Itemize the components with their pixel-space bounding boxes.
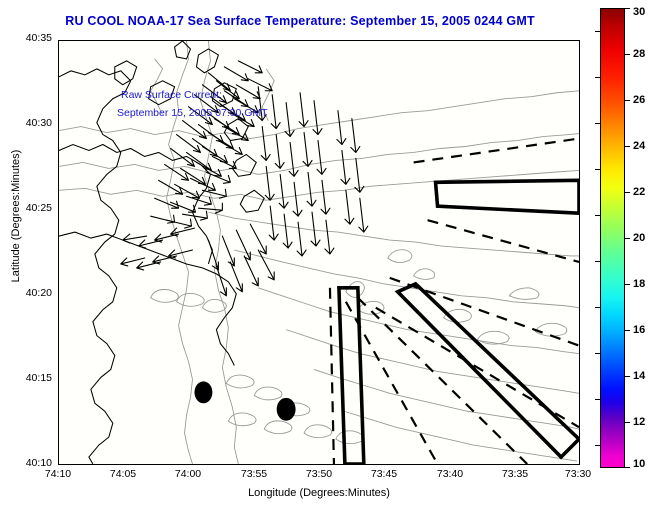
colorbar-tick-label: 30 (633, 6, 645, 18)
xtick-label: 74:00 (175, 468, 201, 480)
xtick-label: 74:05 (110, 468, 136, 480)
shipping-lane-boundaries (330, 139, 579, 464)
colorbar-tick-label: 28 (633, 48, 645, 60)
colorbar-tick-label: 18 (633, 278, 645, 290)
xtick-label: 74:10 (45, 468, 71, 480)
colorbar-tick-label: 22 (633, 186, 645, 198)
xtick-label: 73:55 (241, 468, 267, 480)
y-axis-label: Latitude (Degrees:Minutes) (10, 116, 22, 316)
colorbar-tick-label: 26 (633, 94, 645, 106)
xtick-label: 73:30 (565, 468, 591, 480)
xtick-label: 73:45 (371, 468, 397, 480)
colorbar: 30 28 26 24 22 20 18 16 14 12 10 (600, 8, 625, 468)
colorbar-tick-label: 12 (633, 416, 645, 428)
colorbar-tick-label: 10 (633, 458, 645, 470)
coastline (59, 41, 264, 464)
colorbar-tick-label: 24 (633, 140, 645, 152)
colorbar-tick-label: 20 (633, 232, 645, 244)
xtick-label: 73:50 (306, 468, 332, 480)
colorbar-tick-label: 14 (633, 370, 645, 382)
x-axis-label: Longitude (Degrees:Minutes) (58, 487, 580, 499)
surface-current-vectors (121, 61, 368, 296)
map-plot-area: Raw Surface Current: September 15, 2005 … (58, 40, 580, 465)
figure-root: RU COOL NOAA-17 Sea Surface Temperature:… (0, 0, 651, 518)
xtick-label: 73:35 (502, 468, 528, 480)
map-canvas (59, 41, 579, 464)
figure-title: RU COOL NOAA-17 Sea Surface Temperature:… (0, 14, 600, 28)
colorbar-gradient (600, 8, 625, 468)
colorbar-tick-label: 16 (633, 324, 645, 336)
xtick-label: 73:40 (437, 468, 463, 480)
bathymetry-contours (59, 41, 579, 464)
